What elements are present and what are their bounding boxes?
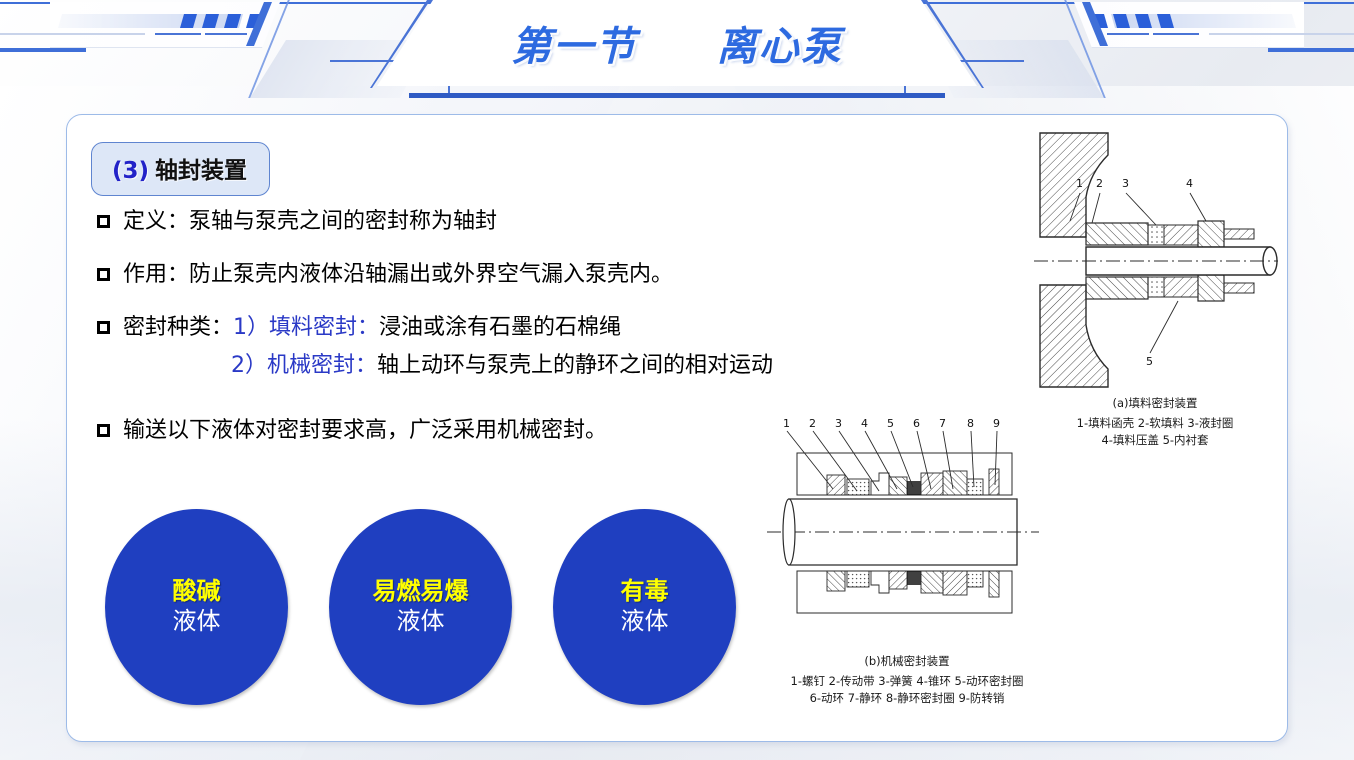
liquid-type-circles: 酸碱 液体 易燃易爆 液体 有毒 液体	[105, 509, 736, 705]
figure-label: 8	[967, 417, 974, 430]
square-bullet-icon	[97, 268, 110, 281]
bullet-definition: 定义：泵轴与泵壳之间的密封称为轴封	[97, 207, 927, 236]
leader-line	[1190, 193, 1206, 221]
figure-label: 5	[887, 417, 894, 430]
figure-label: 7	[939, 417, 946, 430]
figure-label: 5	[1146, 355, 1153, 368]
figure-a-caption: (a)填料密封装置 1-填料函壳 2-软填料 3-液封圈 4-填料压盖 5-内衬…	[1030, 395, 1280, 448]
figure-label: 4	[1186, 177, 1193, 190]
figure-label: 1	[1076, 177, 1083, 190]
figure-b-caption-line2: 6-动环 7-静环 8-静环密封圈 9-防转销	[767, 690, 1047, 707]
figure-label: 2	[1096, 177, 1103, 190]
liquid-seal-ring-upper	[1164, 225, 1198, 245]
circle-heading: 酸碱	[173, 578, 221, 606]
rotating-seal-ring-block	[907, 481, 921, 495]
page-title: 第一节 离心泵	[0, 14, 1354, 72]
bullet-definition-text: 定义：泵轴与泵壳之间的密封称为轴封	[123, 207, 497, 236]
header-underbar	[409, 93, 945, 98]
stationary-ring-block	[943, 471, 967, 495]
circle-flammable-explosive: 易燃易爆 液体	[329, 509, 512, 705]
anti-rotation-pin-block	[989, 469, 999, 495]
leader-line	[1150, 301, 1178, 353]
figure-a-caption-title: (a)填料密封装置	[1030, 395, 1280, 411]
stuffing-box-lower	[1086, 277, 1148, 299]
stationary-seal-ring-block	[967, 571, 983, 587]
anti-rotation-pin-block	[989, 571, 999, 597]
rotating-ring-block	[921, 571, 943, 593]
bullet-function-text: 作用：防止泵壳内液体沿轴漏出或外界空气漏入泵壳内。	[123, 260, 673, 289]
circle-toxic: 有毒 液体	[553, 509, 736, 705]
stationary-ring-block	[943, 571, 967, 595]
leader-line	[1126, 193, 1156, 225]
screw-block	[827, 571, 845, 591]
pump-casing-lower	[1040, 285, 1108, 387]
packing-seal-drawing: 1 2 3 4 5	[1030, 125, 1280, 395]
circle-subtext: 液体	[173, 608, 221, 636]
leader-line	[865, 431, 897, 489]
seal-types-line-2: 2）机械密封：轴上动环与泵壳上的静环之间的相对运动	[231, 351, 773, 380]
square-bullet-icon	[97, 321, 110, 334]
seal-type-1-label: 1）填料密封：	[233, 315, 379, 340]
section-badge-title: 轴封装置	[155, 158, 247, 184]
bullet-list: 定义：泵轴与泵壳之间的密封称为轴封 作用：防止泵壳内液体沿轴漏出或外界空气漏入泵…	[97, 207, 927, 445]
gland-bolt-lower	[1224, 283, 1254, 293]
soft-packing-upper	[1148, 225, 1164, 245]
figure-b-caption-title: (b)机械密封装置	[767, 653, 1047, 669]
gland-bolt-upper	[1224, 229, 1254, 239]
circle-subtext: 液体	[397, 608, 445, 636]
figure-label: 3	[835, 417, 842, 430]
rotating-seal-ring-block	[907, 571, 921, 585]
section-badge: (3)轴封装置	[91, 142, 270, 196]
content-card: (3)轴封装置 定义：泵轴与泵壳之间的密封称为轴封 作用：防止泵壳内液体沿轴漏出…	[66, 114, 1288, 742]
figure-label: 3	[1122, 177, 1129, 190]
slide-header: 第一节 离心泵	[0, 0, 1354, 98]
seal-type-1-desc: 浸油或涂有石墨的石棉绳	[379, 315, 621, 340]
figure-b-caption: (b)机械密封装置 1-螺钉 2-传动带 3-弹簧 4-锥环 5-动环密封圈 6…	[767, 653, 1047, 706]
stuffing-box-upper	[1086, 223, 1148, 245]
bullet-function: 作用：防止泵壳内液体沿轴漏出或外界空气漏入泵壳内。	[97, 260, 927, 289]
circle-acid-alkali: 酸碱 液体	[105, 509, 288, 705]
liquid-seal-ring-lower	[1164, 277, 1198, 297]
packing-gland-lower	[1198, 275, 1224, 301]
figure-label: 6	[913, 417, 920, 430]
spring-block	[871, 473, 889, 495]
seal-type-2-desc: 轴上动环与泵壳上的静环之间的相对运动	[377, 353, 773, 378]
figure-a-caption-line2: 4-填料压盖 5-内衬套	[1030, 432, 1280, 449]
square-bullet-icon	[97, 215, 110, 228]
shaft-end	[783, 499, 795, 565]
leader-line	[1092, 193, 1100, 223]
figure-packing-seal: 1 2 3 4 5 (a)填料密封装置 1-填料函壳 2-软填料 3-液封圈 4…	[1030, 125, 1280, 448]
drive-belt-block	[847, 571, 869, 587]
bullet-note-text: 输送以下液体对密封要求高，广泛采用机械密封。	[123, 416, 607, 445]
figure-label: 1	[783, 417, 790, 430]
seal-type-2-label: 2）机械密封：	[231, 353, 377, 378]
bullet-seal-types: 密封种类：1）填料密封：浸油或涂有石墨的石棉绳 2）机械密封：轴上动环与泵壳上的…	[97, 313, 927, 380]
mechanical-seal-drawing: 1 2 3 4 5 6 7 8 9	[767, 413, 1047, 653]
rotating-ring-block	[921, 473, 943, 495]
figure-label: 9	[993, 417, 1000, 430]
stationary-seal-ring-block	[967, 479, 983, 495]
square-bullet-icon	[97, 424, 110, 437]
circle-subtext: 液体	[621, 608, 669, 636]
leader-line	[787, 431, 833, 489]
figure-label: 4	[861, 417, 868, 430]
figure-b-caption-line1: 1-螺钉 2-传动带 3-弹簧 4-锥环 5-动环密封圈	[767, 673, 1047, 690]
figure-mechanical-seal: 1 2 3 4 5 6 7 8 9 (b)机械密封装置 1-螺钉 2-传动带 3…	[767, 413, 1047, 706]
seal-types-line-1: 密封种类：1）填料密封：浸油或涂有石墨的石棉绳	[123, 315, 621, 340]
section-badge-number: (3)	[112, 158, 149, 184]
spring-block	[871, 571, 889, 593]
figure-label: 2	[809, 417, 816, 430]
packing-gland-upper	[1198, 221, 1224, 247]
bullet-seal-types-body: 密封种类：1）填料密封：浸油或涂有石墨的石棉绳 2）机械密封：轴上动环与泵壳上的…	[123, 313, 773, 380]
circle-heading: 易燃易爆	[373, 578, 469, 606]
circle-heading: 有毒	[621, 578, 669, 606]
figure-a-caption-line1: 1-填料函壳 2-软填料 3-液封圈	[1030, 415, 1280, 432]
soft-packing-lower	[1148, 277, 1164, 297]
seal-types-lead: 密封种类：	[123, 315, 233, 340]
cone-ring-block	[889, 571, 907, 589]
